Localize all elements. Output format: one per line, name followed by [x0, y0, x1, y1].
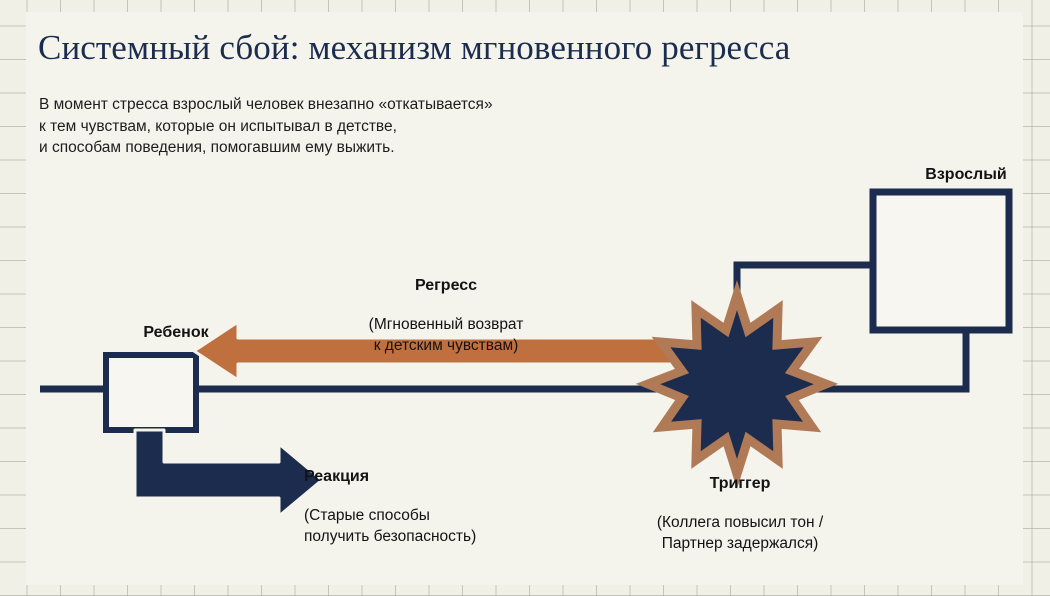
- adult-box[interactable]: [873, 192, 1009, 330]
- regress-label: Регресс: [306, 276, 586, 296]
- regress-sublabel: (Мгновенный возврат к детским чувствам): [306, 314, 586, 356]
- reaction-label: Реакция: [304, 467, 584, 487]
- slide-card: Системный сбой: механизм мгновенного рег…: [26, 12, 1023, 585]
- trigger-sublabel: (Коллега повысил тон / Партнер задержалс…: [588, 512, 892, 554]
- trigger-label: Триггер: [588, 474, 892, 494]
- reaction-arrow-shape: [135, 430, 322, 516]
- adult-box-rect: [873, 192, 1009, 330]
- child-label: Ребенок: [96, 324, 256, 342]
- trigger-label-group: Триггер (Коллега повысил тон / Партнер з…: [588, 456, 892, 572]
- diagram-canvas: Взрослый Ребенок Регресс (Мгновенный воз…: [26, 12, 1023, 585]
- regress-label-group: Регресс (Мгновенный возврат к детским чу…: [306, 258, 586, 374]
- reaction-arrow: [135, 430, 322, 516]
- reaction-label-group: Реакция (Старые способы получить безопас…: [304, 449, 584, 565]
- child-box[interactable]: [106, 355, 196, 430]
- reaction-sublabel: (Старые способы получить безопасность): [304, 505, 584, 547]
- grid-paper-background: Системный сбой: механизм мгновенного рег…: [0, 0, 1050, 596]
- trigger-starburst[interactable]: [648, 295, 826, 474]
- trigger-star-shape: [648, 295, 826, 474]
- adult-label: Взрослый: [886, 166, 1046, 184]
- child-box-rect: [106, 355, 196, 430]
